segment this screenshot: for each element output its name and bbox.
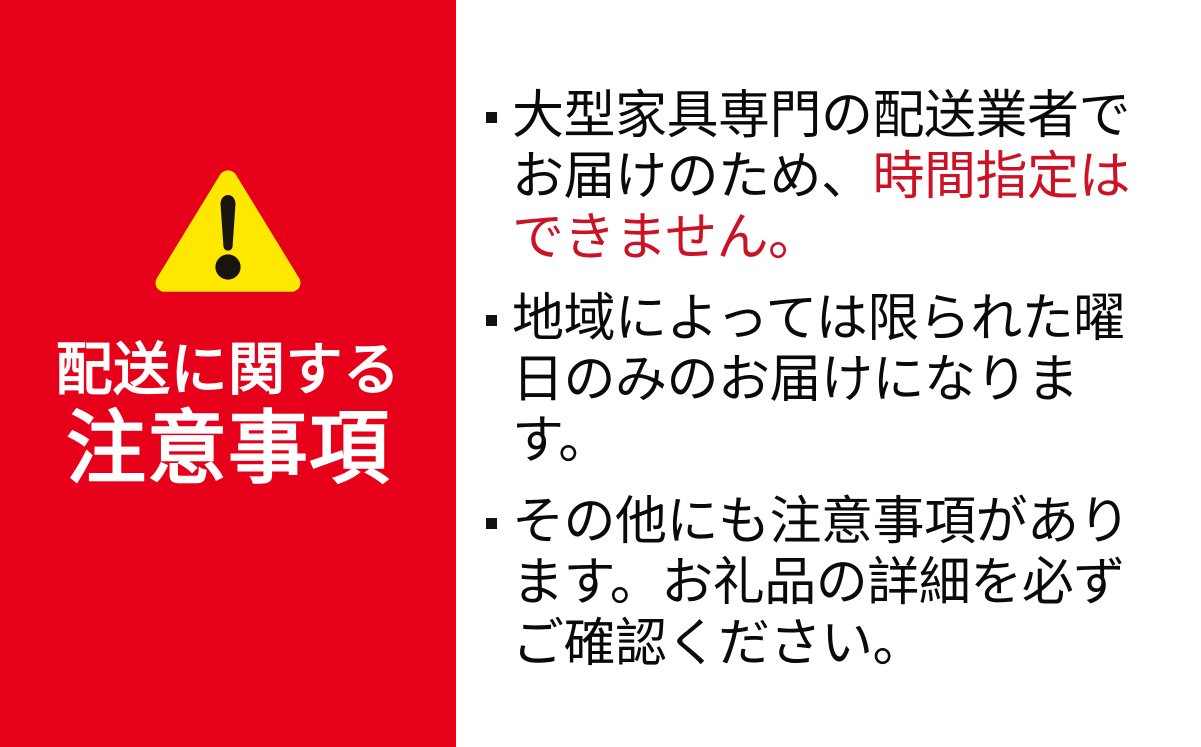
page-title-line-2: 注意事項 — [0, 403, 456, 494]
list-item-text-plain: その他にも注意事項があります。お礼品の詳細を必ずご確認ください。 — [512, 493, 1130, 673]
square-bullet-icon — [486, 112, 497, 123]
notice-list: 大型家具専門の配送業者でお届けのため、時間指定はできません。 地域によっては限ら… — [484, 86, 1174, 675]
list-item: その他にも注意事項があります。お礼品の詳細を必ずご確認ください。 — [484, 492, 1174, 675]
list-item-text: 大型家具専門の配送業者でお届けのため、時間指定はできません。 — [512, 86, 1174, 269]
square-bullet-icon — [486, 315, 497, 326]
list-item-text: その他にも注意事項があります。お礼品の詳細を必ずご確認ください。 — [512, 492, 1174, 675]
warning-triangle-exclamation-icon — [0, 166, 456, 296]
delivery-notice-banner: 配送に関する 注意事項 大型家具専門の配送業者でお届けのため、時間指定はできませ… — [0, 0, 1201, 747]
list-item-text-plain: 地域によっては限られた曜日のみのお届けになります。 — [512, 290, 1125, 470]
left-red-panel: 配送に関する 注意事項 — [0, 0, 456, 747]
list-item: 大型家具専門の配送業者でお届けのため、時間指定はできません。 — [484, 86, 1174, 269]
square-bullet-icon — [486, 518, 497, 529]
page-title: 配送に関する 注意事項 — [0, 334, 456, 494]
list-item: 地域によっては限られた曜日のみのお届けになります。 — [484, 289, 1174, 472]
list-item-text: 地域によっては限られた曜日のみのお届けになります。 — [512, 289, 1174, 472]
page-title-line-1: 配送に関する — [0, 334, 456, 407]
